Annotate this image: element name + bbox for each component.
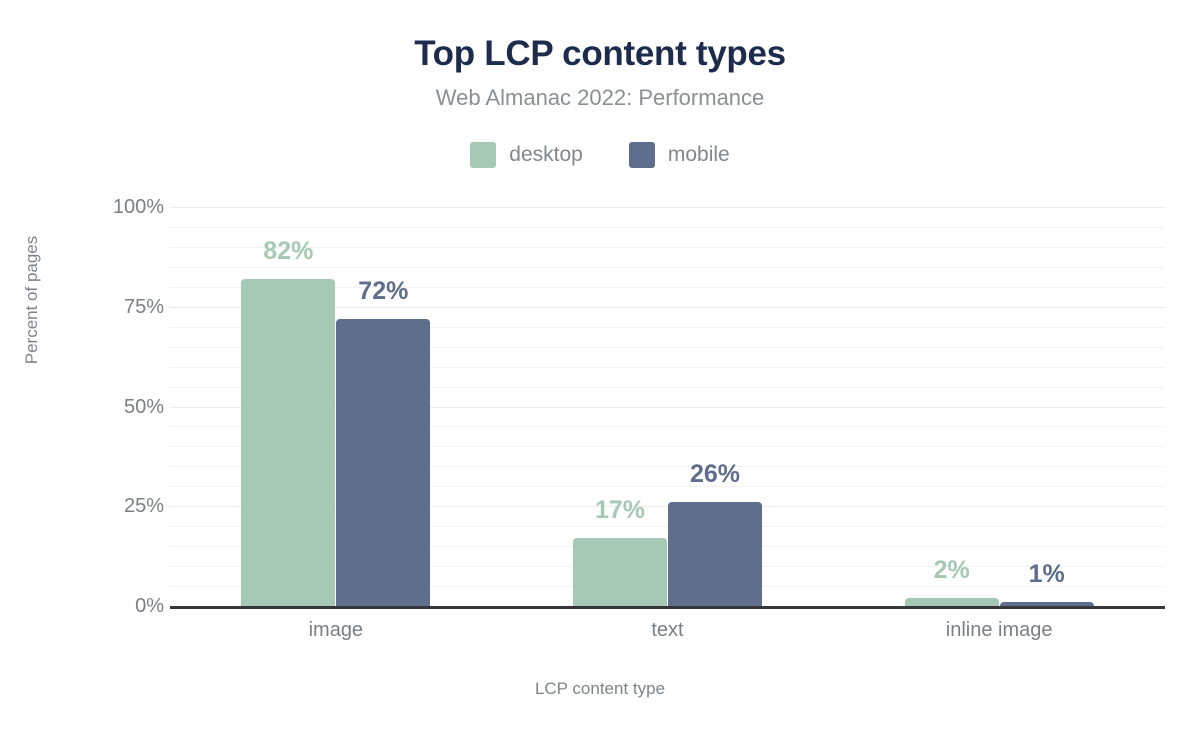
x-axis-tick-label: text	[651, 618, 683, 642]
x-axis-line	[170, 606, 1165, 609]
bar-desktop-inline-image[interactable]	[905, 598, 999, 606]
plot-area: Percent of pages LCP content type 0%25%5…	[0, 0, 1200, 742]
x-axis-tick-label: inline image	[946, 618, 1053, 642]
bar-value-label: 26%	[690, 460, 740, 488]
y-axis-tick-label: 100%	[113, 197, 164, 217]
gridline	[170, 227, 1165, 228]
bar-desktop-text[interactable]	[573, 538, 667, 606]
bar-mobile-image[interactable]	[336, 319, 430, 606]
bar-value-label: 72%	[358, 277, 408, 305]
bar-value-label: 17%	[595, 496, 645, 524]
y-axis-tick-label: 25%	[124, 496, 164, 516]
gridline	[170, 247, 1165, 248]
x-axis-title: LCP content type	[0, 679, 1200, 699]
bar-mobile-inline-image[interactable]	[1000, 602, 1094, 606]
bar-value-label: 2%	[934, 556, 970, 584]
bar-value-label: 82%	[263, 237, 313, 265]
x-axis-tick-label: image	[309, 618, 363, 642]
y-axis-title: Percent of pages	[22, 236, 42, 365]
y-axis-tick-label: 75%	[124, 297, 164, 317]
bar-desktop-image[interactable]	[241, 279, 335, 606]
y-axis-tick-label: 0%	[135, 596, 164, 616]
bar-mobile-text[interactable]	[668, 502, 762, 606]
gridline	[170, 207, 1165, 208]
y-axis-tick-label: 50%	[124, 397, 164, 417]
gridline	[170, 267, 1165, 268]
bar-value-label: 1%	[1029, 560, 1065, 588]
